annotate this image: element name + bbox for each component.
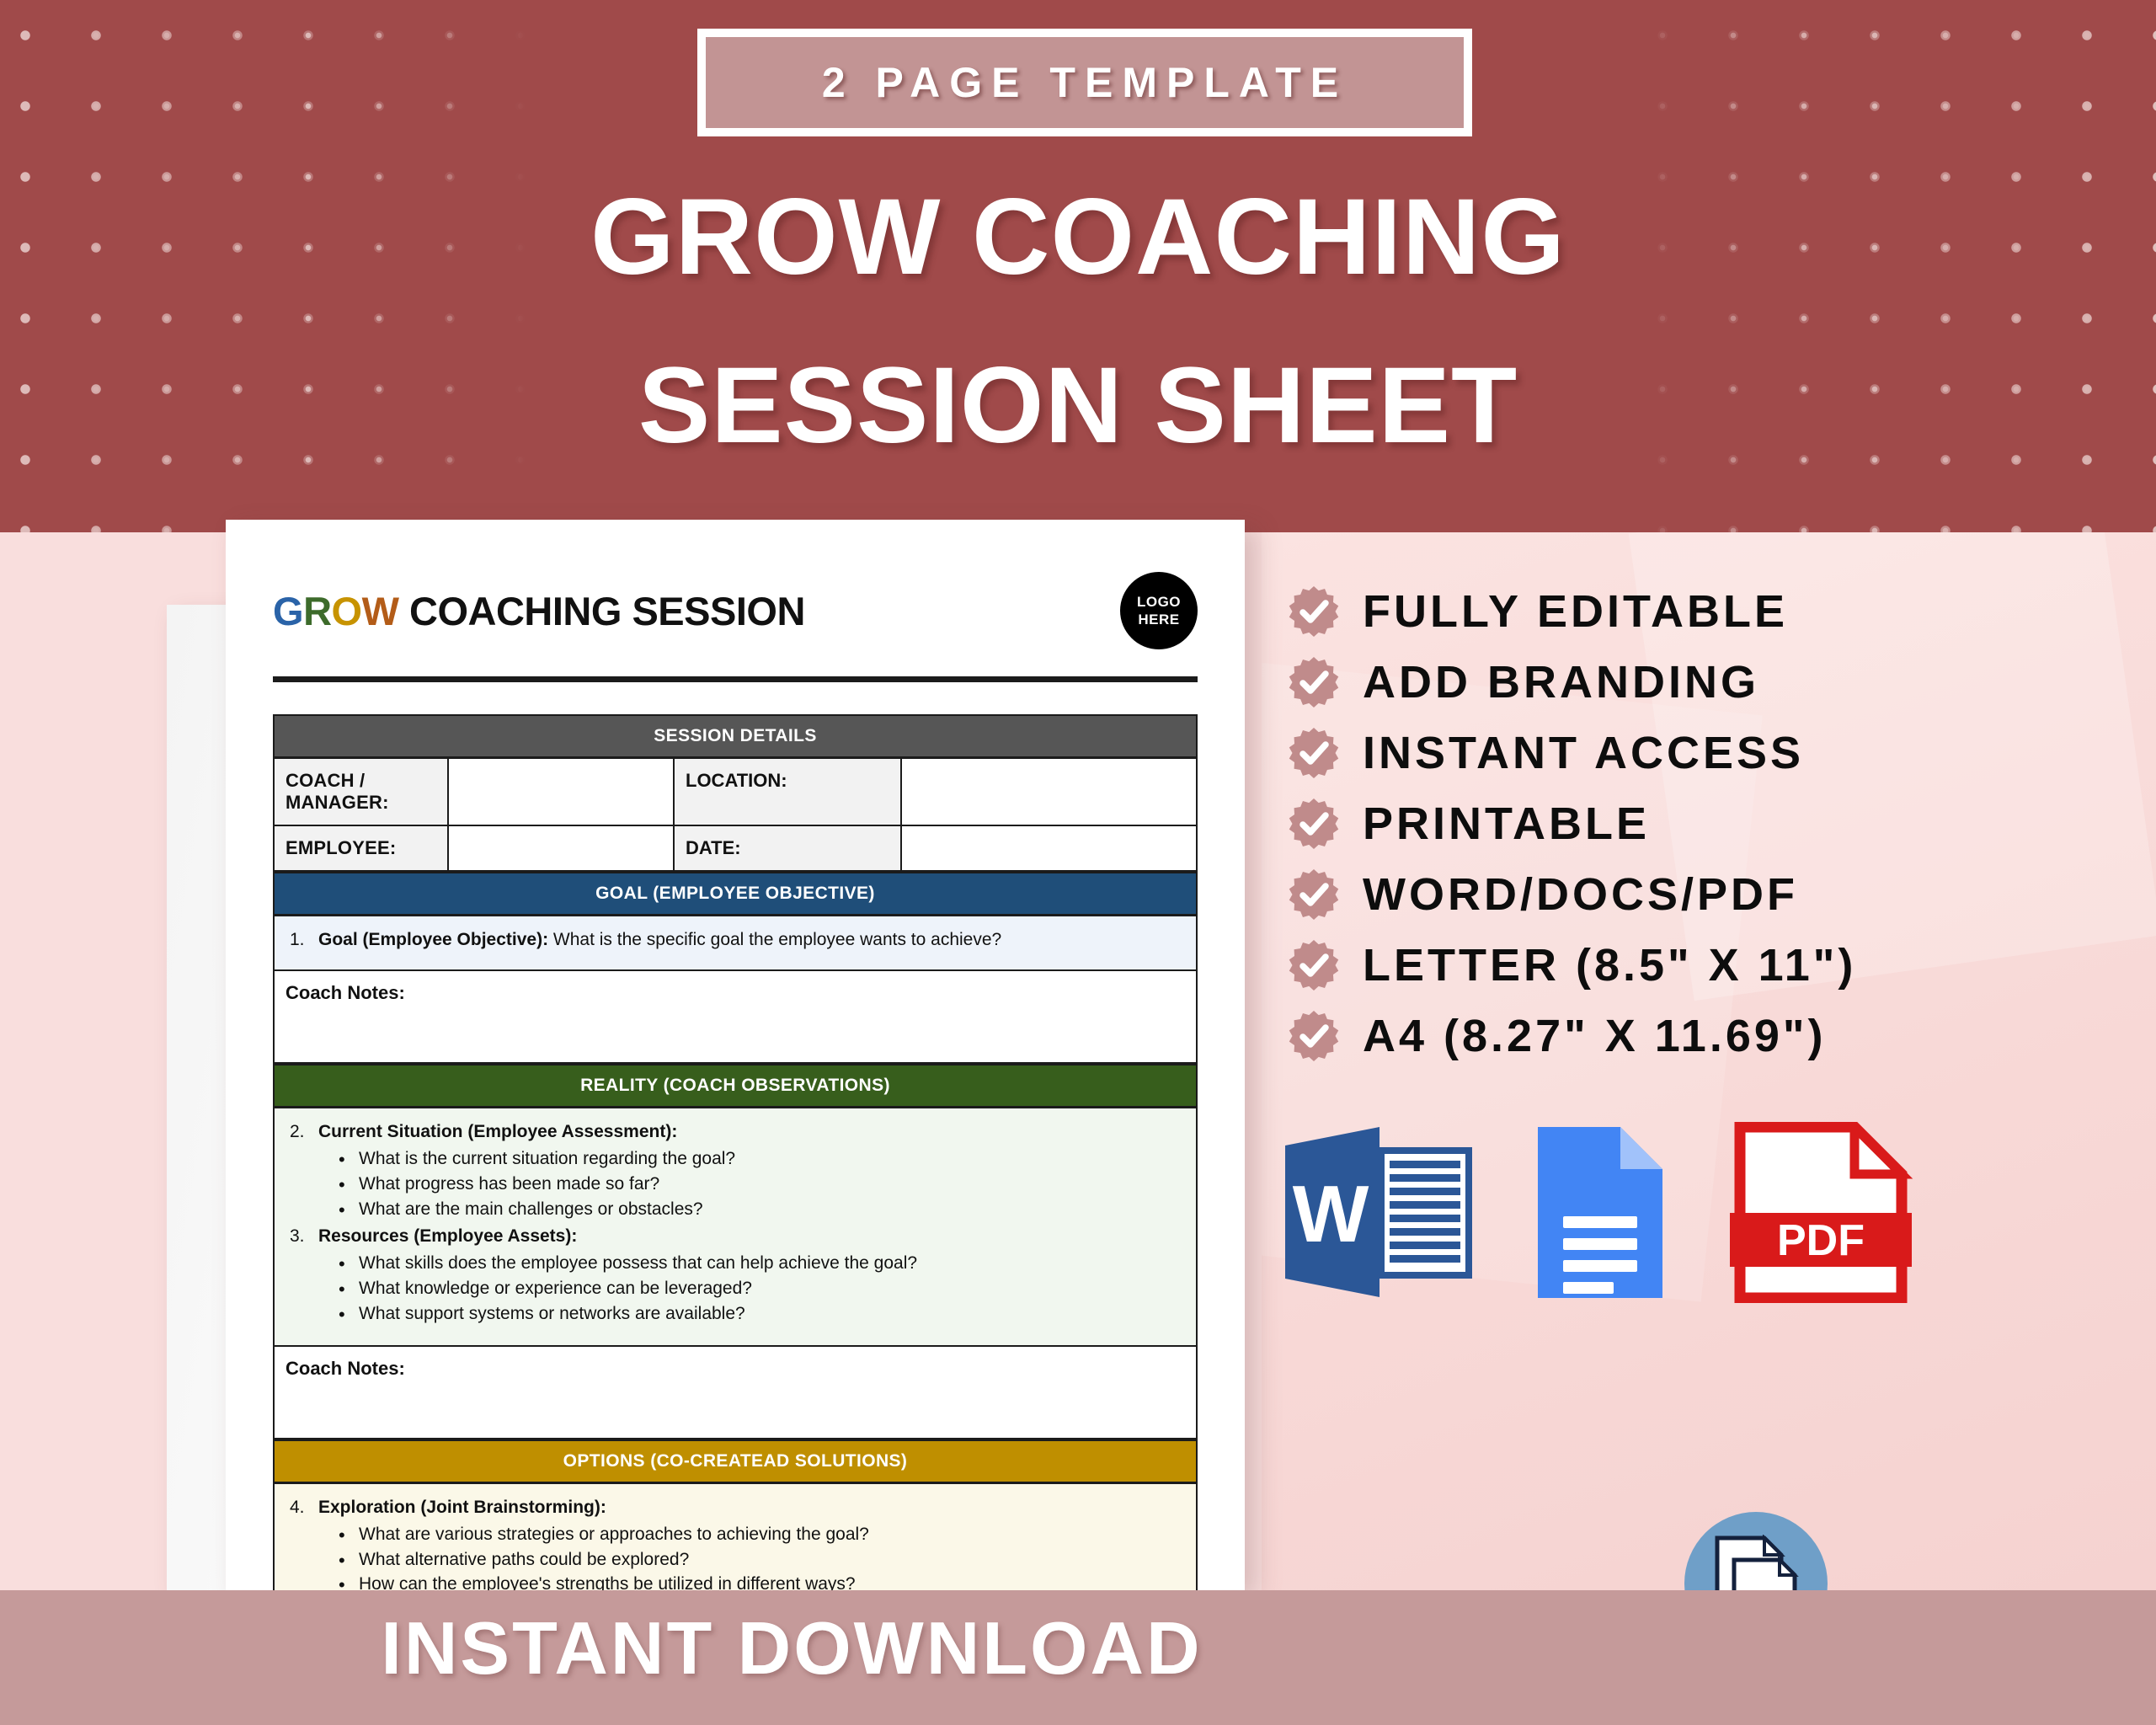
check-badge-icon: [1287, 938, 1341, 992]
file-format-icons: W: [1278, 1122, 1913, 1307]
feature-item: PRINTABLE: [1287, 788, 1856, 859]
document-header: GROW COACHING SESSION LOGO HERE: [273, 572, 1198, 649]
feature-item: A4 (8.27" X 11.69"): [1287, 1001, 1856, 1071]
grow-letter-r: R: [303, 589, 331, 633]
item-number: 4.: [290, 1496, 318, 1520]
list-item: What are the main challenges or obstacle…: [290, 1197, 1181, 1222]
check-badge-icon: [1287, 1009, 1341, 1063]
logo-line-2: HERE: [1138, 611, 1179, 628]
list-item: 3.Resources (Employee Assets):: [290, 1225, 1181, 1249]
list-item: 2.Current Situation (Employee Assessment…: [290, 1120, 1181, 1145]
list-item: What is the current situation regarding …: [290, 1146, 1181, 1172]
item-title: Current Situation (Employee Assessment):: [318, 1122, 677, 1141]
feature-label: FULLY EDITABLE: [1363, 589, 1788, 634]
employee-field[interactable]: [449, 826, 675, 870]
options-section-body: 4.Exploration (Joint Brainstorming): Wha…: [273, 1484, 1198, 1590]
header-divider: [273, 676, 1198, 682]
feature-label: INSTANT ACCESS: [1363, 730, 1804, 776]
page-count-label: 2 PAGE TEMPLATE: [822, 58, 1347, 107]
goal-section-header: GOAL (EMPLOYEE OBJECTIVE): [273, 872, 1198, 916]
coach-notes-label: Coach Notes:: [286, 1358, 405, 1379]
session-details-header: SESSION DETAILS: [273, 714, 1198, 759]
item-text: What is the specific goal the employee w…: [548, 930, 1001, 949]
grow-letter-w: W: [362, 589, 399, 633]
feature-item: LETTER (8.5" X 11"): [1287, 930, 1856, 1001]
logo-line-1: LOGO: [1137, 593, 1181, 611]
list-item: What alternative paths could be explored…: [290, 1547, 1181, 1573]
feature-item: INSTANT ACCESS: [1287, 718, 1856, 788]
goal-coach-notes[interactable]: Coach Notes:: [273, 971, 1198, 1064]
check-badge-icon: [1287, 868, 1341, 921]
options-section-header: OPTIONS (CO-CREATEAD SOLUTIONS): [273, 1439, 1198, 1484]
word-icon: W: [1278, 1122, 1472, 1307]
item-number: 3.: [290, 1225, 318, 1249]
item-title: Goal (Employee Objective):: [318, 930, 548, 949]
feature-label: A4 (8.27" X 11.69"): [1363, 1013, 1826, 1059]
feature-label: LETTER (8.5" X 11"): [1363, 943, 1856, 988]
location-label: LOCATION:: [675, 759, 902, 825]
hero-title-line-1: GROW COACHING: [0, 184, 2156, 291]
list-item: 1.Goal (Employee Objective): What is the…: [290, 928, 1181, 953]
document-title: GROW COACHING SESSION: [273, 588, 805, 634]
logo-placeholder: LOGO HERE: [1120, 572, 1198, 649]
date-field[interactable]: [902, 826, 1196, 870]
reality-coach-notes[interactable]: Coach Notes:: [273, 1347, 1198, 1439]
page-count-badge: 2 PAGE TEMPLATE: [697, 29, 1472, 136]
list-item: What are various strategies or approache…: [290, 1522, 1181, 1547]
table-row: EMPLOYEE: DATE:: [273, 826, 1198, 872]
coach-manager-field[interactable]: [449, 759, 675, 825]
check-badge-icon: [1287, 655, 1341, 709]
list-item: 4.Exploration (Joint Brainstorming):: [290, 1496, 1181, 1520]
svg-text:PDF: PDF: [1777, 1216, 1865, 1265]
feature-label: WORD/DOCS/PDF: [1363, 872, 1798, 917]
list-item: How can the employee's strengths be util…: [290, 1572, 1181, 1590]
grow-letter-g: G: [273, 589, 303, 633]
google-docs-icon: [1533, 1122, 1668, 1307]
hero-title-line-2: SESSION SHEET: [0, 352, 2156, 460]
coach-manager-label: COACH / MANAGER:: [275, 759, 449, 825]
instant-download-banner: INSTANT DOWNLOAD: [0, 1590, 2156, 1725]
check-badge-icon: [1287, 585, 1341, 638]
pdf-icon: PDF: [1728, 1122, 1913, 1307]
document-page-1: GROW COACHING SESSION LOGO HERE SESSION …: [226, 520, 1245, 1590]
item-number: 2.: [290, 1120, 318, 1145]
item-number: 1.: [290, 928, 318, 953]
table-row: COACH / MANAGER: LOCATION:: [273, 759, 1198, 826]
grow-letter-o: O: [332, 589, 362, 633]
employee-label: EMPLOYEE:: [275, 826, 449, 870]
check-badge-icon: [1287, 726, 1341, 780]
feature-item: FULLY EDITABLE: [1287, 576, 1856, 647]
promo-graphic: 2 PAGE TEMPLATE GROW COACHING SESSION SH…: [0, 0, 2156, 1725]
feature-item: ADD BRANDING: [1287, 647, 1856, 718]
instant-download-label: INSTANT DOWNLOAD: [0, 1605, 1583, 1691]
date-label: DATE:: [675, 826, 902, 870]
list-item: What skills does the employee possess th…: [290, 1251, 1181, 1276]
goal-section-body: 1.Goal (Employee Objective): What is the…: [273, 916, 1198, 971]
reality-section-body: 2.Current Situation (Employee Assessment…: [273, 1108, 1198, 1347]
hero-banner: 2 PAGE TEMPLATE GROW COACHING SESSION SH…: [0, 0, 2156, 532]
svg-text:W: W: [1293, 1169, 1369, 1259]
item-title: Resources (Employee Assets):: [318, 1226, 577, 1246]
feature-label: ADD BRANDING: [1363, 660, 1759, 705]
list-item: What knowledge or experience can be leve…: [290, 1276, 1181, 1301]
features-panel: FULLY EDITABLE ADD BRANDING INSTANT ACCE…: [1262, 532, 2156, 1590]
list-item: What progress has been made so far?: [290, 1172, 1181, 1197]
feature-item: WORD/DOCS/PDF: [1287, 859, 1856, 930]
check-badge-icon: [1287, 797, 1341, 851]
feature-label: PRINTABLE: [1363, 801, 1650, 846]
item-title: Exploration (Joint Brainstorming):: [318, 1498, 606, 1517]
reality-section-header: REALITY (COACH OBSERVATIONS): [273, 1064, 1198, 1108]
location-field[interactable]: [902, 759, 1196, 825]
document-title-rest: COACHING SESSION: [398, 589, 804, 633]
list-item: What support systems or networks are ava…: [290, 1301, 1181, 1327]
session-details-table: SESSION DETAILS COACH / MANAGER: LOCATIO…: [273, 714, 1198, 1590]
feature-list: FULLY EDITABLE ADD BRANDING INSTANT ACCE…: [1287, 576, 1856, 1071]
coach-notes-label: Coach Notes:: [286, 982, 405, 1003]
